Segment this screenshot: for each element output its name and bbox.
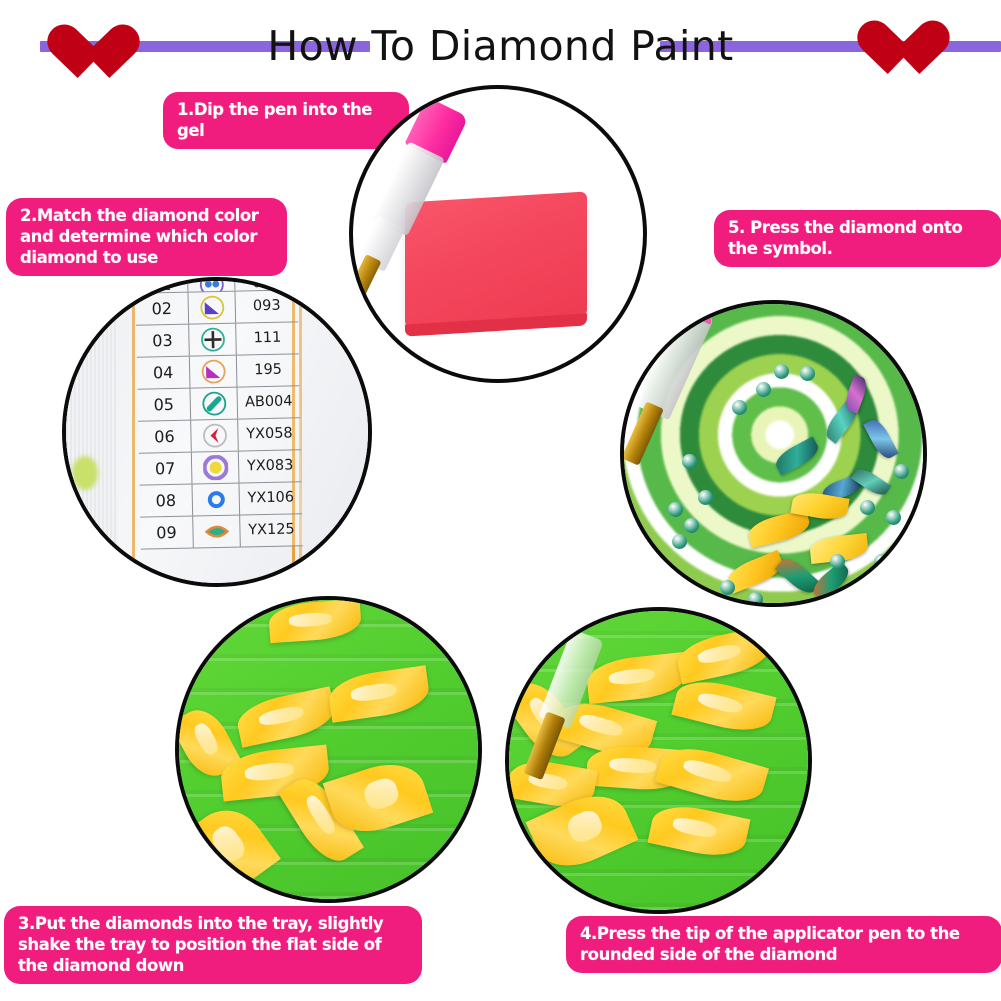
chart-cell-code: 02 [135,278,188,293]
chart-cell-symbol-filled-triangle-icon [190,356,238,388]
chart-cell-reference: 111 [236,322,299,354]
chart-cell-code: 08 [140,485,194,517]
rhinestone-small [774,364,789,379]
chart-cell-reference: 020 [235,277,297,291]
rhinestone-small [684,518,699,533]
color-chart-row: 09YX125 [140,514,303,549]
infographic-canvas: How To Diamond Paint 1.Dip the pen into … [0,0,1001,1001]
color-chart-row: 06YX058 [138,418,301,453]
chart-cell-symbol-leaf-shape-icon [193,516,241,548]
chart-cell-symbol-plus-cross-icon [189,324,237,356]
color-chart-row: 02093 [135,290,298,325]
chart-cell-symbol-filled-dot-ring-icon [192,452,240,484]
chart-cell-code: 06 [138,421,192,453]
chart-cell-reference: 195 [237,354,300,386]
rhinestone-small [874,554,889,569]
color-chart-row: 08YX106 [140,482,303,517]
chart-cell-code: 09 [140,517,194,549]
photo-step-4-pen-tip-on-diamond [505,607,812,914]
canvas-color-blob [70,526,100,552]
rhinestone-small [732,400,747,415]
photo-step-3-diamonds-in-tray [175,596,482,903]
chart-cell-reference: YX125 [240,514,303,546]
chart-cell-reference: 093 [235,290,298,322]
rhinestone-small [800,366,815,381]
chart-cell-code: 07 [139,453,193,485]
rhinestone-small [830,554,845,569]
photo-step-2-color-chart: 0202002093031110419505AB00406YX05807YX08… [62,277,372,587]
chart-cell-symbol-double-dot-circle-icon [188,277,235,292]
chart-cell-symbol-left-chevron-icon [191,420,239,452]
rhinestone-small [698,490,713,505]
color-chart-row: 04195 [137,354,300,389]
rhinestone-small [756,382,771,397]
step-2-label: 2.Match the diamond color and determine … [6,198,287,276]
chart-cell-reference: YX058 [238,418,301,450]
chart-cell-code: 04 [137,357,191,389]
chart-cell-code: 02 [135,293,189,325]
pink-gel-pad [405,191,587,327]
chart-margin-line [132,281,135,583]
step-4-label: 4.Press the tip of the applicator pen to… [566,916,1001,973]
chart-cell-code: 05 [138,389,192,421]
color-chart-table: 0202002093031110419505AB00406YX05807YX08… [135,277,303,550]
canvas-color-blob [72,456,98,490]
chart-cell-reference: YX106 [239,482,302,514]
chart-cell-reference: AB004 [237,386,300,418]
chart-cell-code: 03 [136,325,190,357]
color-chart-row: 07YX083 [139,450,302,485]
page-title: How To Diamond Paint [0,20,1001,72]
photo-step-5-press-diamond [620,300,927,607]
rhinestone-small [668,502,683,517]
step-3-label: 3.Put the diamonds into the tray, slight… [4,906,422,984]
color-chart-row: 03111 [136,322,299,357]
chart-cell-reference: YX083 [239,450,302,482]
rhinestone-small [748,592,763,607]
photo-step-1-pen-in-gel [349,85,647,383]
rhinestone-small [860,500,875,515]
rhinestone-small [682,454,697,469]
chart-cell-symbol-open-ring-icon [193,484,241,516]
rhinestone-small [886,510,901,525]
chart-cell-symbol-filled-triangle-icon [188,292,236,324]
color-chart-row: 05AB004 [138,386,301,421]
rhinestone-small [672,534,687,549]
step-5-label: 5. Press the diamond onto the symbol. [714,210,1001,267]
rhinestone-small [894,464,909,479]
chart-cell-symbol-diagonal-bar-icon [190,388,238,420]
rhinestone-small [720,580,735,595]
